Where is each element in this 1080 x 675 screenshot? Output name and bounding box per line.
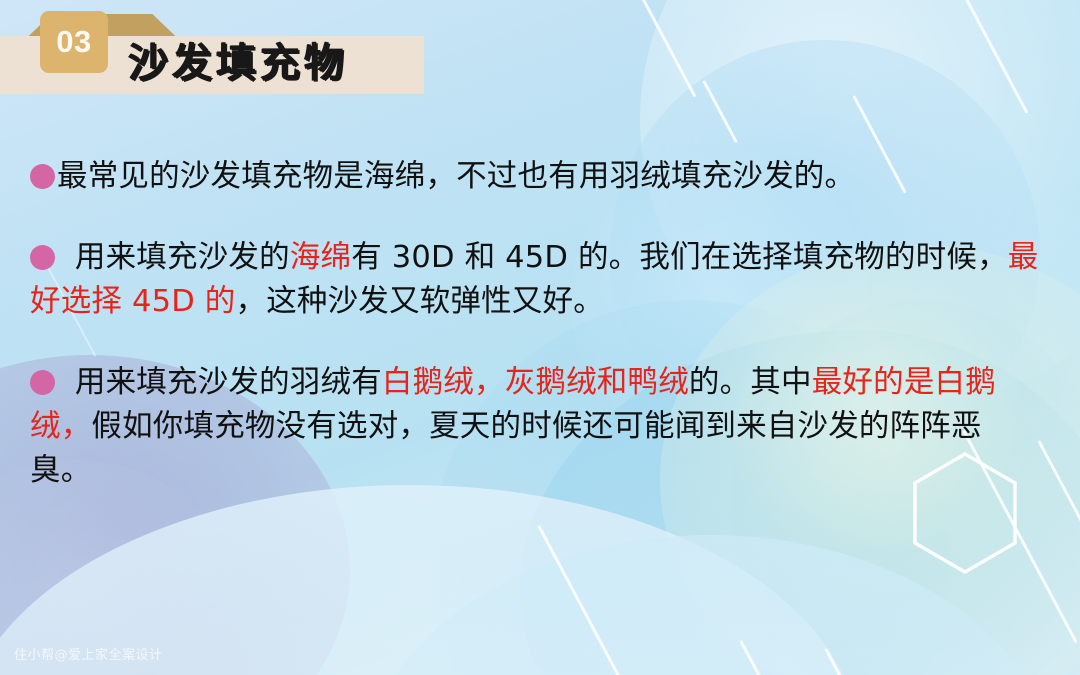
bullet-paragraph-3: 用来填充沙发的羽绒有白鹅绒，灰鹅绒和鸭绒的。其中最好的是白鹅绒，假如你填充物没有…: [30, 361, 1040, 493]
bullet-3-run-1: 白鹅绒，灰鹅绒和鸭绒: [382, 365, 689, 400]
bullet-3-run-0: 用来填充沙发的羽绒有: [65, 365, 382, 400]
content-body: 最常见的沙发填充物是海绵，不过也有用羽绒填充沙发的。 用来填充沙发的海绵有 30…: [30, 124, 1040, 530]
watermark-label: 住小帮@爱上家全案设计: [14, 644, 163, 663]
bullet-2-run-1: 海绵: [290, 240, 351, 275]
section-number-label: 03: [56, 24, 91, 60]
bullet-3-run-4: 假如你填充物没有选对，夏天的时候还可能闻到来自沙发的阵阵恶臭。: [30, 409, 982, 488]
bullet-1-run-0: 最常见的沙发填充物是海绵，不过也有用羽绒填充沙发的。: [57, 159, 855, 194]
page-title: 沙发填充物: [128, 34, 348, 92]
bullet-dot-icon: [30, 164, 55, 189]
bullet-dot-icon: [30, 245, 55, 270]
bullet-2-run-4: ，这种沙发又软弹性又好。: [236, 284, 604, 319]
bullet-2-run-2: 有 30D 和 45D 的。我们在选择填充物的时候，: [351, 240, 1008, 275]
bullet-paragraph-1: 最常见的沙发填充物是海绵，不过也有用羽绒填充沙发的。: [30, 155, 1040, 199]
bullet-2-run-0: 用来填充沙发的: [65, 240, 290, 275]
slide-canvas: 03 沙发填充物 最常见的沙发填充物是海绵，不过也有用羽绒填充沙发的。 用来填充…: [0, 0, 1080, 675]
bullet-3-run-2: 的。其中: [689, 365, 812, 400]
section-number-badge: 03: [40, 11, 108, 73]
bullet-dot-icon: [30, 370, 55, 395]
bullet-paragraph-2: 用来填充沙发的海绵有 30D 和 45D 的。我们在选择填充物的时候，最好选择 …: [30, 236, 1040, 324]
